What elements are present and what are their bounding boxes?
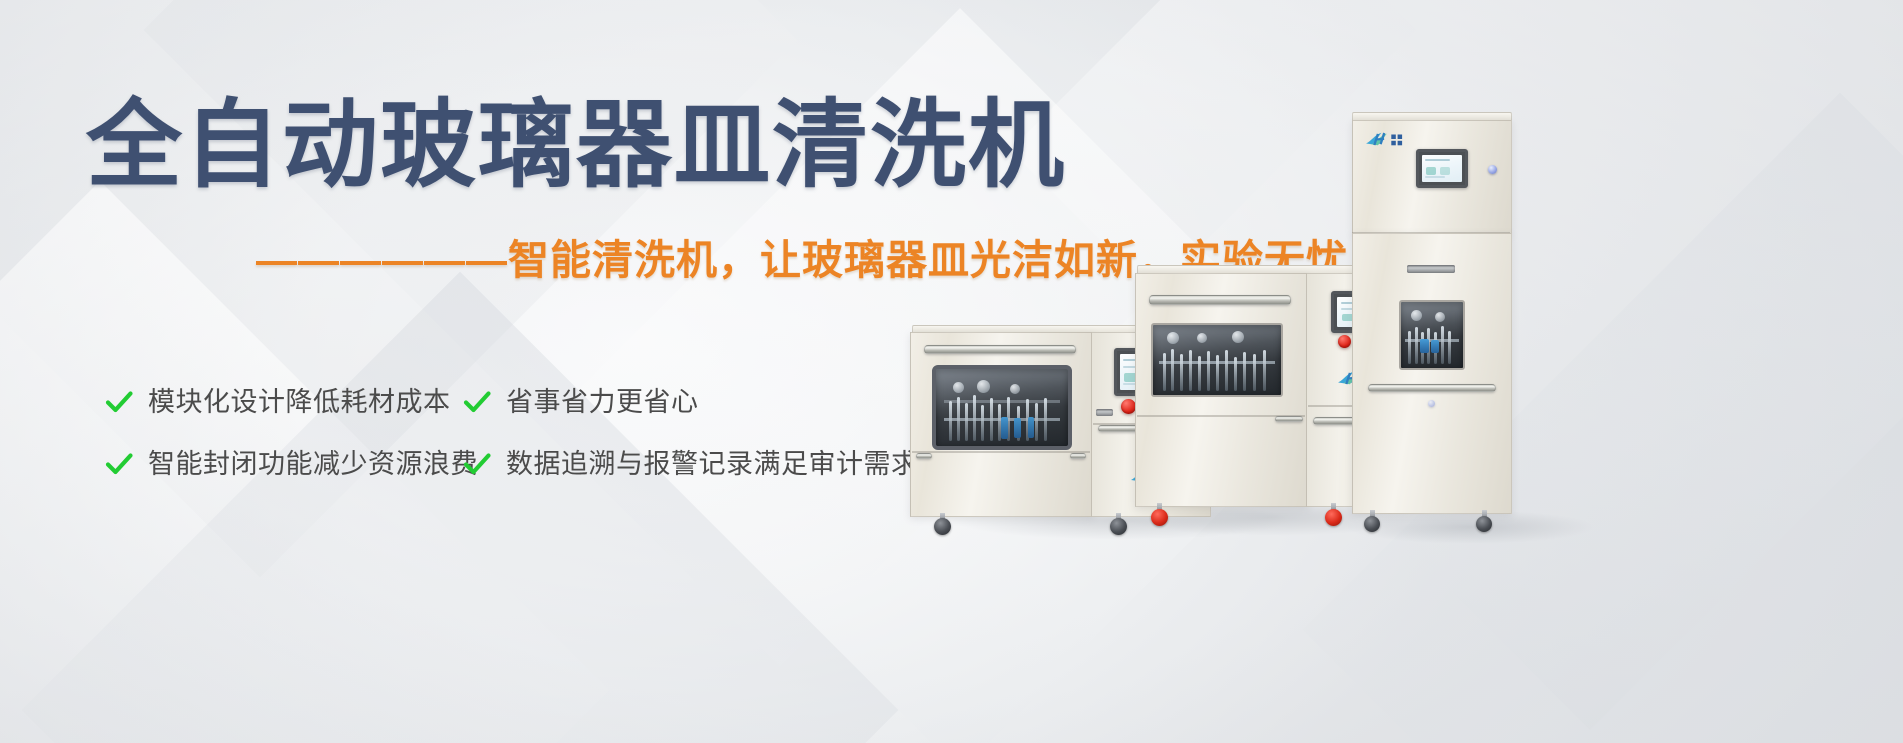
screen-text-line [1425, 176, 1445, 178]
check-icon [462, 449, 492, 479]
brand-h-logo [1364, 130, 1406, 148]
feature-row: 智能封闭功能减少资源浪费 数据追溯与报警记录满足审计需求 [104, 447, 964, 481]
caster-wheel [934, 518, 951, 535]
control-touchscreen[interactable] [1416, 149, 1468, 188]
door-seam [912, 451, 1090, 453]
feature-label: 数据追溯与报警记录满足审计需求 [506, 447, 919, 481]
feature-list: 模块化设计降低耗材成本 省事省力更省心 智能封闭功能减少资源浪费 [104, 385, 964, 509]
chamber-viewing-window [932, 365, 1072, 450]
lower-door-handle[interactable] [1368, 384, 1496, 392]
feature-item: 模块化设计降低耗材成本 [104, 385, 462, 419]
product-tall-cabinet-washer [1352, 112, 1512, 522]
emergency-stop-button[interactable] [1121, 399, 1136, 414]
caster-wheel [1476, 516, 1492, 532]
feature-label: 智能封闭功能减少资源浪费 [148, 447, 478, 481]
power-indicator-light[interactable] [1488, 165, 1497, 174]
check-icon [462, 387, 492, 417]
feature-item: 智能封闭功能减少资源浪费 [104, 447, 462, 481]
caster-wheel [1110, 518, 1127, 535]
feature-row: 模块化设计降低耗材成本 省事省力更省心 [104, 385, 964, 419]
chamber-viewing-window [1399, 300, 1465, 370]
feature-item: 数据追溯与报警记录满足审计需求 [462, 447, 922, 481]
vent-grille [1096, 409, 1113, 416]
emergency-stop-button[interactable] [1338, 335, 1351, 348]
window-reflection [1401, 302, 1463, 368]
glassware-load [936, 369, 1068, 446]
banner-title: 全自动玻璃器皿清洗机 [86, 98, 1066, 194]
door-lock-indicator [1428, 400, 1435, 407]
touchscreen-display[interactable] [1422, 155, 1462, 182]
feature-item: 省事省力更省心 [462, 385, 922, 419]
lower-door-handle[interactable] [1275, 416, 1303, 422]
screen-text-line [1425, 159, 1450, 161]
caster-wheel [1364, 516, 1380, 532]
chamber-viewing-window [1151, 323, 1283, 397]
glassware-load [1153, 325, 1281, 395]
window-reflection [936, 369, 1068, 446]
product-image-group [1090, 0, 1903, 743]
feature-label: 模块化设计降低耗材成本 [148, 385, 451, 419]
caster-wheel [1151, 509, 1168, 526]
lower-cabinet-panel [1352, 233, 1512, 514]
check-icon [104, 387, 134, 417]
chamber-door-handle[interactable] [1149, 295, 1291, 305]
chamber-door-handle[interactable] [924, 345, 1076, 354]
lower-door-handle[interactable] [1070, 453, 1086, 459]
screen-status-chip [1426, 167, 1436, 175]
lower-door-handle[interactable] [916, 453, 932, 459]
screen-status-chip [1440, 167, 1450, 175]
product-banner: 全自动玻璃器皿清洗机 ——————智能清洗机，让玻璃器皿光洁如新，实验无忧！ 模… [0, 0, 1903, 743]
check-icon [104, 449, 134, 479]
caster-wheel [1325, 509, 1342, 526]
glassware-load [1401, 302, 1463, 368]
feature-label: 省事省力更省心 [506, 385, 699, 419]
window-reflection [1153, 325, 1281, 395]
vent-grille [1407, 265, 1455, 273]
